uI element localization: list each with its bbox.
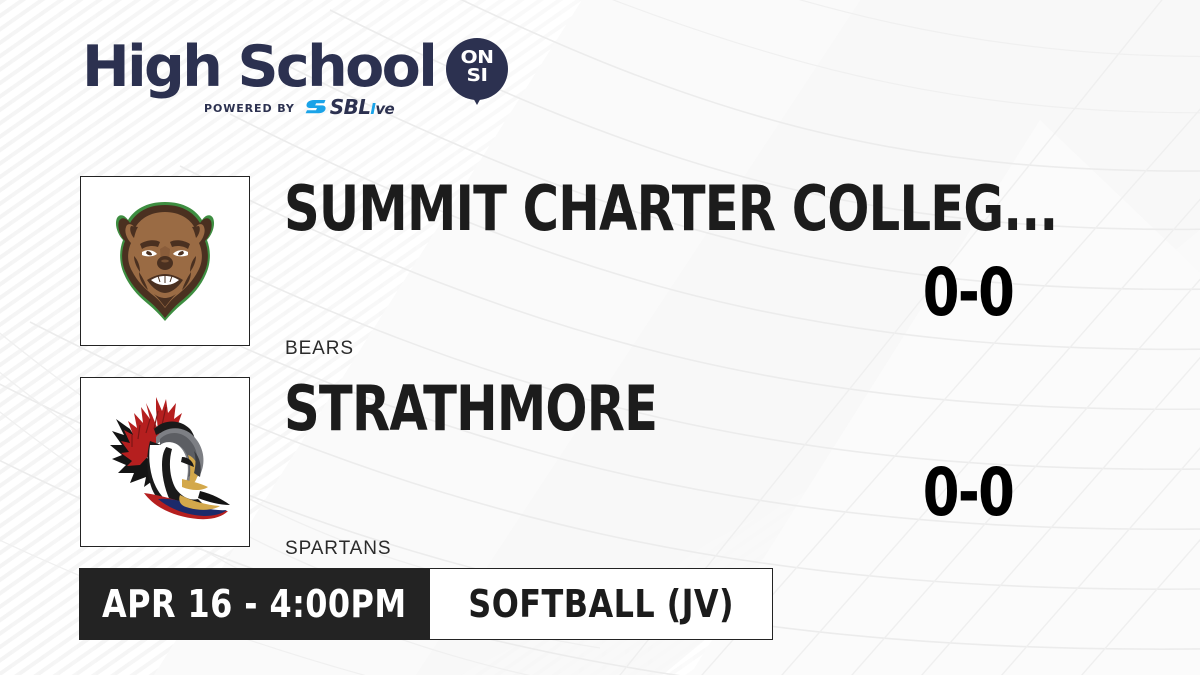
team-name-1: SUMMIT CHARTER COLLEG... — [284, 178, 1057, 240]
team-record-1: 0-0 — [888, 260, 1048, 326]
game-sport-label: SOFTBALL (JV) — [468, 585, 734, 623]
bear-head-logo — [98, 194, 232, 328]
team-mascot-1: BEARS — [285, 338, 354, 360]
sblive-s-mark-icon — [305, 99, 327, 117]
on-si-pin-icon: ON SI — [446, 38, 508, 100]
pin-label-bottom: SI — [442, 67, 511, 85]
game-datetime-label: APR 16 - 4:00PM — [102, 585, 407, 623]
brand-lockup: High School ON SI POWERED BY SBLIve — [82, 36, 512, 136]
sblive-logo: SBLIve — [305, 97, 394, 119]
sblive-word-ve: ve — [375, 100, 394, 118]
team-mascot-2: SPARTANS — [285, 538, 391, 560]
game-info-bar: APR 16 - 4:00PM SOFTBALL (JV) — [79, 568, 773, 640]
team-record-2: 0-0 — [888, 460, 1048, 526]
game-datetime-badge: APR 16 - 4:00PM — [79, 568, 430, 640]
team-logo-frame-spartans — [80, 377, 250, 547]
team-logo-frame-bears — [80, 176, 250, 346]
brand-title-row: High School ON SI — [82, 36, 512, 100]
pin-label: ON SI — [442, 49, 511, 85]
spartan-helmet-logo — [94, 395, 236, 529]
page-title: High School — [82, 36, 435, 98]
sblive-word-sbl: SBL — [330, 95, 371, 119]
team-name-2: STRATHMORE — [284, 378, 657, 440]
game-sport-badge: SOFTBALL (JV) — [430, 568, 773, 640]
powered-by-label: POWERED BY — [204, 102, 295, 115]
sblive-wordmark: SBLIve — [330, 97, 394, 119]
